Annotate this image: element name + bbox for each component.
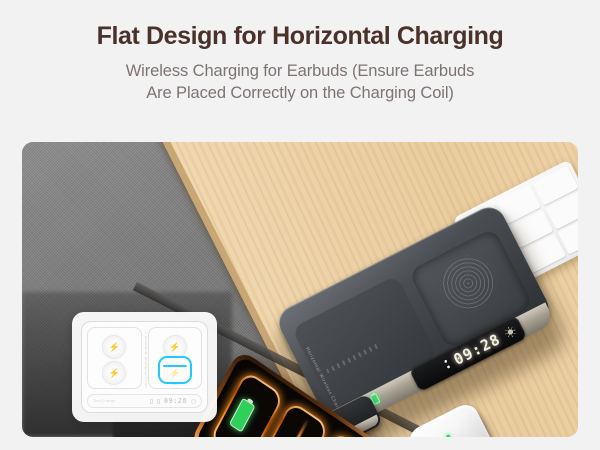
header-block: Flat Design for Horizontal Charging Wire… [0, 0, 600, 104]
diagram-pad-right: ⚡ ⚡ [148, 327, 203, 389]
diagram-front-bar: TechCharge 09:28 [87, 394, 202, 408]
diagram-side-label: Horizontal Wireless Charger [144, 336, 148, 389]
page-subtitle: Wireless Charging for Earbuds (Ensure Ea… [0, 60, 600, 105]
diagram-clock-time: 09:28 [164, 397, 187, 405]
page-subtitle-line2: Are Placed Correctly on the Charging Coi… [0, 82, 600, 104]
brightness-icon [503, 325, 518, 340]
placement-diagram-card: ⚡ ⚡ ⚡ ⚡ Horizontal Wireless Charger Tech… [72, 312, 217, 422]
page-title: Flat Design for Horizontal Charging [0, 22, 600, 51]
product-photo: Horizontal Wireless Charger TechCharge 0… [22, 142, 578, 437]
page-subtitle-line1: Wireless Charging for Earbuds (Ensure Ea… [126, 62, 475, 80]
charging-led-icon [446, 434, 451, 437]
diagram-brightness-icon [191, 399, 196, 404]
coil-left-bottom-icon: ⚡ [103, 362, 125, 384]
diagram-brand-label: TechCharge [93, 399, 115, 403]
coil-left-top-icon: ⚡ [103, 336, 125, 358]
diagram-lamp-2-icon [157, 399, 160, 404]
earbuds-placement-highlight [158, 356, 192, 384]
diagram-device: ⚡ ⚡ ⚡ ⚡ Horizontal Wireless Charger Tech… [81, 321, 208, 413]
diagram-lamp-1-icon [150, 399, 153, 404]
clock-colon-icon [443, 359, 451, 370]
diagram-pad-left: ⚡ ⚡ [87, 327, 142, 389]
coil-right-top-icon: ⚡ [164, 336, 186, 358]
